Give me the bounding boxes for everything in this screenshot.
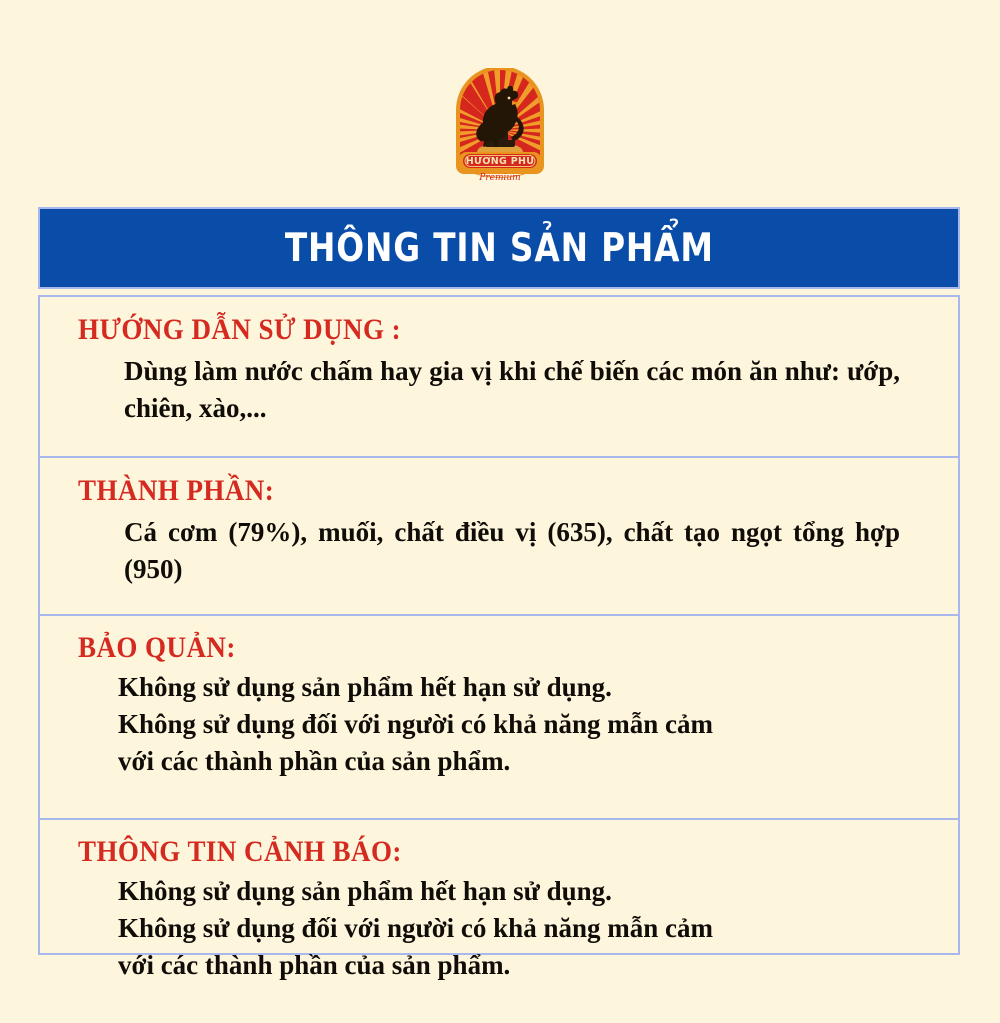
section-body-usage: Dùng làm nước chấm hay gia vị khi chế bi… xyxy=(124,353,900,427)
section-heading-usage: HƯỚNG DẪN SỬ DỤNG : xyxy=(78,315,870,345)
page-title: THÔNG TIN SẢN PHẨM xyxy=(285,229,714,268)
body-line: Không sử dụng sản phẩm hết hạn sử dụng. xyxy=(118,669,918,706)
section-ingredients: THÀNH PHẦN: Cá cơm (79%), muối, chất điề… xyxy=(40,476,958,616)
section-heading-warning: THÔNG TIN CẢNH BÁO: xyxy=(78,837,870,867)
body-line: Không sử dụng đối với người có khả năng … xyxy=(118,910,918,947)
section-heading-storage: BẢO QUẢN: xyxy=(78,633,870,663)
section-warning: THÔNG TIN CẢNH BÁO: Không sử dụng sản ph… xyxy=(40,837,958,1023)
section-heading-ingredients: THÀNH PHẦN: xyxy=(78,476,870,506)
body-line: với các thành phần của sản phẩm. xyxy=(118,947,918,984)
section-storage: BẢO QUẢN: Không sử dụng sản phẩm hết hạn… xyxy=(40,633,958,820)
section-body-storage: Không sử dụng sản phẩm hết hạn sử dụng. … xyxy=(118,669,918,780)
body-line: Không sử dụng sản phẩm hết hạn sử dụng. xyxy=(118,873,918,910)
section-body-ingredients: Cá cơm (79%), muối, chất điều vị (635), … xyxy=(124,514,900,588)
logo-tagline-text: Premium xyxy=(478,173,520,183)
body-line: Không sử dụng đối với người có khả năng … xyxy=(118,706,918,743)
info-panel: HƯỚNG DẪN SỬ DỤNG : Dùng làm nước chấm h… xyxy=(38,295,960,955)
product-info-infographic: HƯƠNG PHÚ Premium THÔNG TIN SẢN PHẨM HƯỚ… xyxy=(0,0,1000,1000)
body-line: với các thành phần của sản phẩm. xyxy=(118,743,918,780)
logo-brand-text: HƯƠNG PHÚ xyxy=(466,155,535,167)
header-banner: THÔNG TIN SẢN PHẨM xyxy=(38,207,960,289)
section-body-warning: Không sử dụng sản phẩm hết hạn sử dụng. … xyxy=(118,873,918,984)
brand-logo: HƯƠNG PHÚ Premium xyxy=(0,68,1000,184)
rooster-emblem-icon: HƯƠNG PHÚ Premium xyxy=(452,68,548,184)
section-usage: HƯỚNG DẪN SỬ DỤNG : Dùng làm nước chấm h… xyxy=(40,315,958,458)
